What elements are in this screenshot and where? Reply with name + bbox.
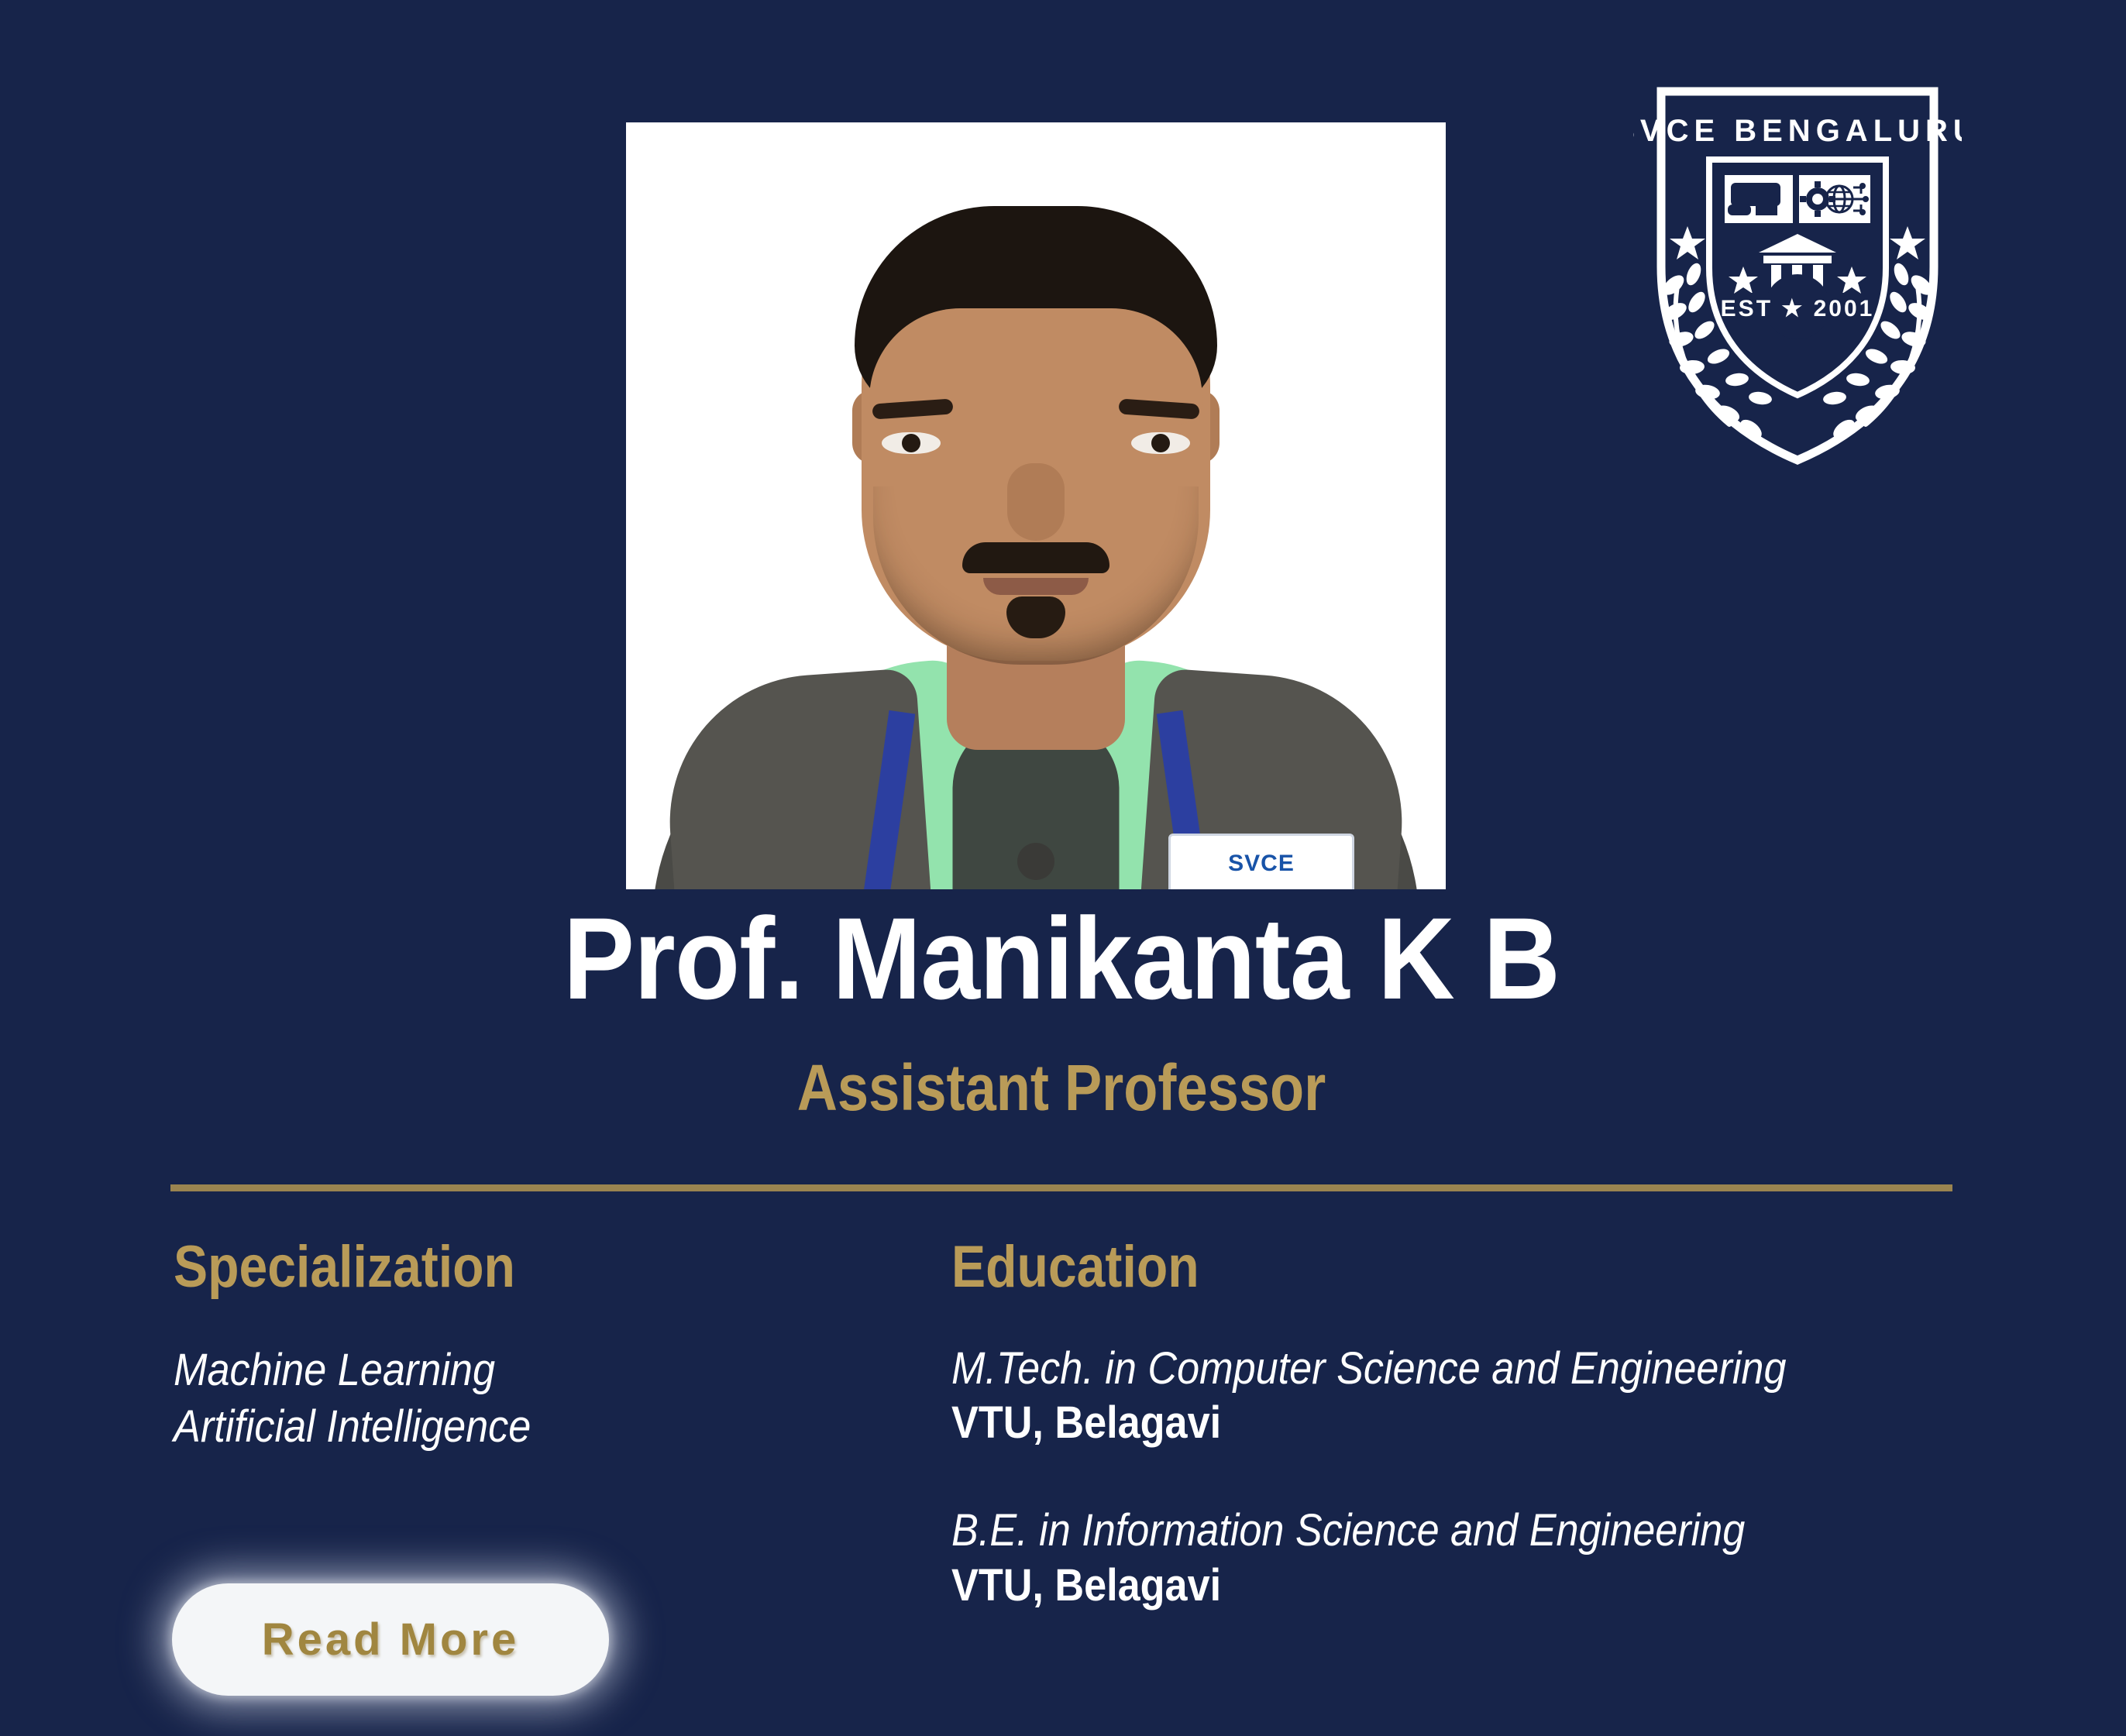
- specialization-section: Specialization Machine Learning Artifici…: [174, 1235, 917, 1455]
- education-entry: M.Tech. in Computer Science and Engineer…: [951, 1342, 1966, 1452]
- read-more-button[interactable]: Read More: [172, 1583, 609, 1696]
- education-title: Education: [951, 1235, 1835, 1300]
- section-divider: [170, 1184, 1952, 1191]
- id-card-badge: SVCE: [1168, 834, 1354, 889]
- specialization-title: Specialization: [174, 1235, 820, 1300]
- college-logo: SVCE BENGALURU: [1633, 74, 1962, 471]
- education-university: VTU, Belagavi: [951, 1396, 1865, 1451]
- education-degree: M.Tech. in Computer Science and Engineer…: [951, 1342, 1865, 1397]
- faculty-name: Prof. Manikanta K B: [242, 897, 1881, 1020]
- faculty-photo: SVCE: [626, 122, 1446, 889]
- portrait-illustration: SVCE: [626, 122, 1446, 889]
- education-university: VTU, Belagavi: [951, 1559, 1865, 1614]
- id-card-badge-text: SVCE: [1228, 851, 1295, 877]
- faculty-designation: Assistant Professor: [295, 1052, 1828, 1123]
- logo-arc-text: SVCE BENGALURU: [1633, 114, 1962, 148]
- specialization-item: Machine Learning: [174, 1342, 843, 1398]
- specialization-item: Artificial Intelligence: [174, 1398, 843, 1455]
- education-section: Education M.Tech. in Computer Science an…: [951, 1235, 1966, 1666]
- logo-est-text: EST ★ 2001: [1721, 296, 1875, 321]
- education-entry: B.E. in Information Science and Engineer…: [951, 1504, 1966, 1614]
- education-degree: B.E. in Information Science and Engineer…: [951, 1504, 1865, 1559]
